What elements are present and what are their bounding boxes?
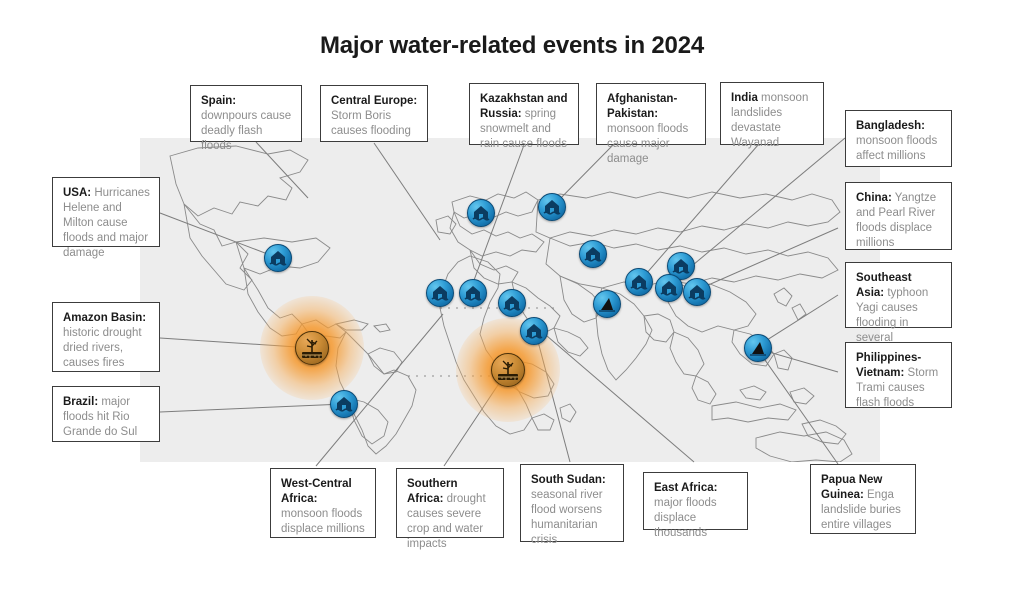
- map-marker-spain[interactable]: [426, 279, 454, 307]
- callout-lead: Brazil:: [63, 396, 98, 408]
- map-marker-amazon[interactable]: [295, 331, 329, 365]
- flood-house-icon: [520, 317, 548, 345]
- callout-lead: Central Europe:: [331, 95, 417, 107]
- flood-house-icon: [264, 244, 292, 272]
- callout-lead: East Africa:: [654, 482, 718, 494]
- callout-lead: Amazon Basin:: [63, 312, 146, 324]
- callout-lead: Bangladesh:: [856, 120, 925, 132]
- flood-house-icon: [655, 274, 683, 302]
- map-marker-brazil[interactable]: [330, 390, 358, 418]
- callout-lead: USA:: [63, 187, 91, 199]
- callout-lead: India: [731, 92, 758, 104]
- callout-southeast-asia[interactable]: Southeast Asia: typhoon Yagi causes floo…: [845, 262, 952, 328]
- flood-house-icon: [538, 193, 566, 221]
- callout-lead: South Sudan:: [531, 474, 606, 486]
- flood-house-icon: [467, 199, 495, 227]
- flood-house-icon: [683, 278, 711, 306]
- map-marker-central-europe[interactable]: [467, 199, 495, 227]
- callout-central-europe[interactable]: Central Europe: Storm Boris causes flood…: [320, 85, 428, 142]
- callout-kazakhstan[interactable]: Kazakhstan and Russia: spring snowmelt a…: [469, 83, 579, 145]
- callout-india[interactable]: India monsoon landslides devastate Wayan…: [720, 82, 824, 145]
- map-marker-philippines[interactable]: [683, 278, 711, 306]
- callout-china[interactable]: China: Yangtze and Pearl River floods di…: [845, 182, 952, 250]
- callout-south-sudan[interactable]: South Sudan: seasonal river flood worsen…: [520, 464, 624, 542]
- callout-philippines[interactable]: Philippines-Vietnam: Storm Trami causes …: [845, 342, 952, 408]
- callout-lead: China:: [856, 192, 892, 204]
- callout-west-central-africa[interactable]: West-Central Africa: monsoon floods disp…: [270, 468, 376, 538]
- map-marker-papua-new-guinea[interactable]: [744, 334, 772, 362]
- map-marker-south-sudan[interactable]: [498, 289, 526, 317]
- landslide-icon: [593, 290, 621, 318]
- map-marker-bangladesh[interactable]: [593, 290, 621, 318]
- infographic-canvas: Major water-related events in 2024: [0, 0, 1024, 604]
- callout-lead: Afghanistan-Pakistan:: [607, 93, 677, 120]
- map-marker-east-africa[interactable]: [520, 317, 548, 345]
- callout-text: Storm Boris causes flooding: [331, 110, 411, 137]
- callout-lead: West-Central Africa:: [281, 478, 352, 505]
- map-marker-kazakhstan[interactable]: [538, 193, 566, 221]
- callout-afghanistan[interactable]: Afghanistan-Pakistan: monsoon floods cau…: [596, 83, 706, 145]
- callout-text: monsoon floods affect millions: [856, 135, 937, 162]
- map-marker-southeast-asia[interactable]: [655, 274, 683, 302]
- map-marker-india[interactable]: [625, 268, 653, 296]
- map-marker-southern-africa[interactable]: [491, 353, 525, 387]
- callout-text: seasonal river flood worsens humanitaria…: [531, 489, 603, 546]
- map-marker-usa[interactable]: [264, 244, 292, 272]
- callout-text: monsoon floods displace millions: [281, 508, 365, 535]
- callout-text: historic drought dried rivers, causes fi…: [63, 327, 142, 369]
- map-marker-west-central-africa[interactable]: [459, 279, 487, 307]
- drought-icon: [295, 331, 329, 365]
- callout-southern-africa[interactable]: Southern Africa: drought causes severe c…: [396, 468, 504, 538]
- callout-brazil[interactable]: Brazil: major floods hit Rio Grande do S…: [52, 386, 160, 442]
- flood-house-icon: [459, 279, 487, 307]
- drought-icon: [491, 353, 525, 387]
- map-marker-afghanistan[interactable]: [579, 240, 607, 268]
- callout-usa[interactable]: USA: Hurricanes Helene and Milton cause …: [52, 177, 160, 247]
- callout-spain[interactable]: Spain: downpours cause deadly flash floo…: [190, 85, 302, 142]
- flood-house-icon: [579, 240, 607, 268]
- flood-house-icon: [330, 390, 358, 418]
- flood-house-icon: [426, 279, 454, 307]
- flood-house-icon: [625, 268, 653, 296]
- callout-lead: Spain:: [201, 95, 236, 107]
- callout-amazon[interactable]: Amazon Basin: historic drought dried riv…: [52, 302, 160, 372]
- callout-east-africa[interactable]: East Africa: major floods displace thous…: [643, 472, 748, 530]
- flood-house-icon: [498, 289, 526, 317]
- callout-papua-new-guinea[interactable]: Papua New Guinea: Enga landslide buries …: [810, 464, 916, 534]
- callout-bangladesh[interactable]: Bangladesh: monsoon floods affect millio…: [845, 110, 952, 167]
- landslide-icon: [744, 334, 772, 362]
